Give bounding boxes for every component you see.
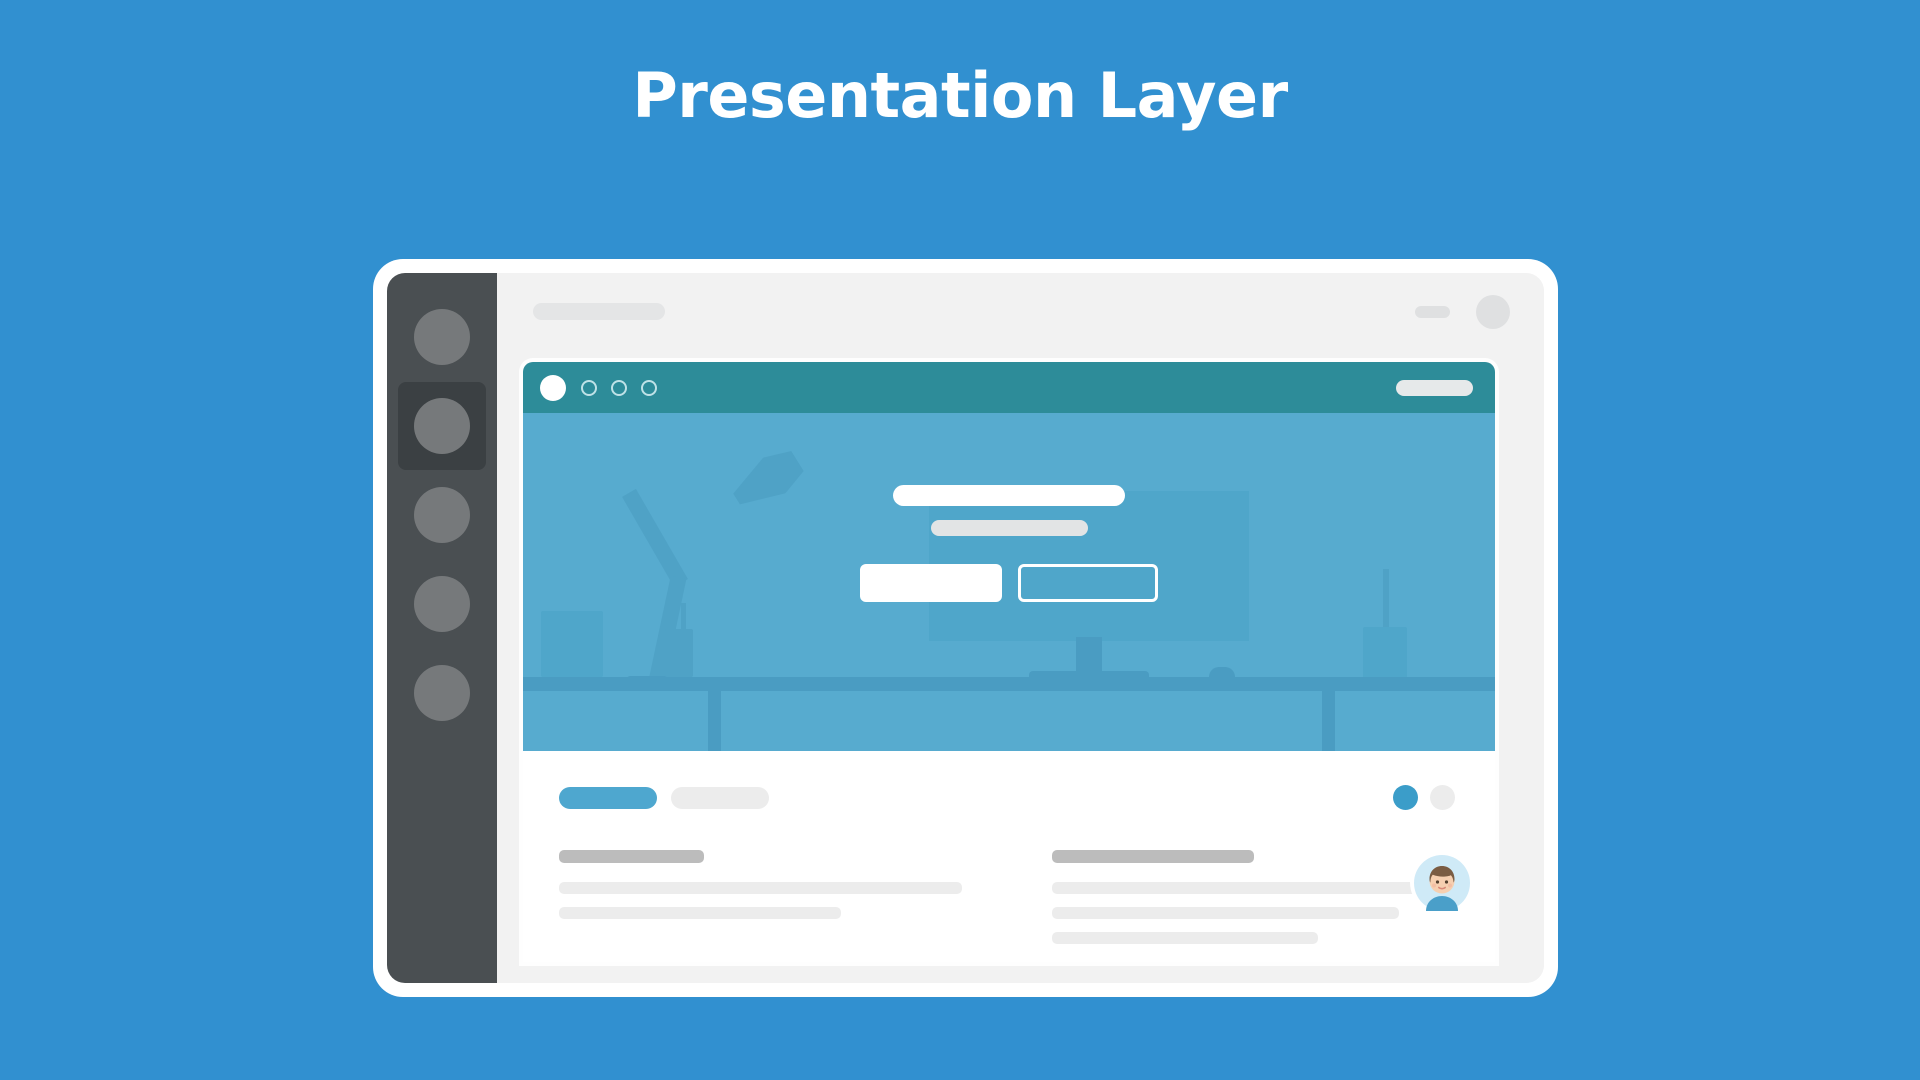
browser-dot-ring-2-icon[interactable]	[611, 380, 627, 396]
sidebar-item-4[interactable]	[398, 560, 486, 648]
column-heading	[1052, 850, 1254, 863]
page-dot-inactive[interactable]	[1430, 785, 1455, 810]
browser-dot-ring-1-icon[interactable]	[581, 380, 597, 396]
content-panel	[523, 751, 1495, 962]
hero-secondary-button[interactable]	[1018, 564, 1158, 602]
hero-copy	[523, 485, 1495, 602]
column-line	[559, 907, 841, 919]
app-header	[497, 273, 1544, 350]
hero-headline-placeholder	[893, 485, 1125, 506]
column-heading	[559, 850, 704, 863]
pen-art-2	[681, 603, 686, 633]
book-stack-art	[541, 611, 603, 677]
left-column	[559, 850, 962, 957]
boy-avatar-icon	[1414, 855, 1470, 911]
desk-surface-art	[523, 677, 1495, 691]
page-dot-active[interactable]	[1393, 785, 1418, 810]
browser-titlebar	[523, 362, 1495, 413]
tabs-row	[559, 785, 1455, 810]
pen-cup-art	[665, 629, 693, 677]
hero-section	[523, 413, 1495, 751]
monitor-neck-art	[1076, 637, 1102, 675]
column-line	[1052, 932, 1318, 944]
desk-leg-left-art	[708, 689, 721, 751]
desk-leg-right-art	[1322, 689, 1335, 751]
plant-pot-art	[1363, 627, 1407, 683]
sidebar-item-1[interactable]	[398, 293, 486, 381]
sidebar-icon-3	[414, 487, 470, 543]
sidebar-icon-4	[414, 576, 470, 632]
pagination	[1393, 785, 1455, 810]
sidebar-item-5[interactable]	[398, 649, 486, 737]
device-frame	[373, 259, 1558, 997]
column-line	[1052, 907, 1399, 919]
hero-primary-button[interactable]	[860, 564, 1002, 602]
sidebar-icon-1	[414, 309, 470, 365]
device-screen	[387, 273, 1544, 983]
browser-dot-ring-3-icon[interactable]	[641, 380, 657, 396]
sidebar-icon-2	[414, 398, 470, 454]
app-sidebar	[387, 273, 497, 983]
hero-subtitle-placeholder	[931, 520, 1088, 536]
hero-actions	[860, 564, 1158, 602]
text-columns	[559, 850, 1455, 957]
browser-window	[523, 362, 1495, 962]
page-title: Presentation Layer	[0, 62, 1920, 130]
column-line	[559, 882, 962, 894]
column-line	[1052, 882, 1455, 894]
sidebar-item-2[interactable]	[398, 382, 486, 470]
browser-url-input[interactable]	[1396, 380, 1473, 396]
minimize-icon[interactable]	[1415, 306, 1450, 318]
tab-active[interactable]	[559, 787, 657, 809]
app-main	[497, 273, 1544, 983]
pen-art-1	[671, 611, 676, 633]
sidebar-item-3[interactable]	[398, 471, 486, 559]
support-avatar[interactable]	[1410, 851, 1473, 914]
browser-dot-filled-icon[interactable]	[540, 375, 566, 401]
app-logo-placeholder	[533, 303, 665, 320]
avatar[interactable]	[1476, 295, 1510, 329]
tab-inactive[interactable]	[671, 787, 769, 809]
app-header-actions	[1415, 295, 1510, 329]
right-column	[1052, 850, 1455, 957]
sidebar-icon-5	[414, 665, 470, 721]
